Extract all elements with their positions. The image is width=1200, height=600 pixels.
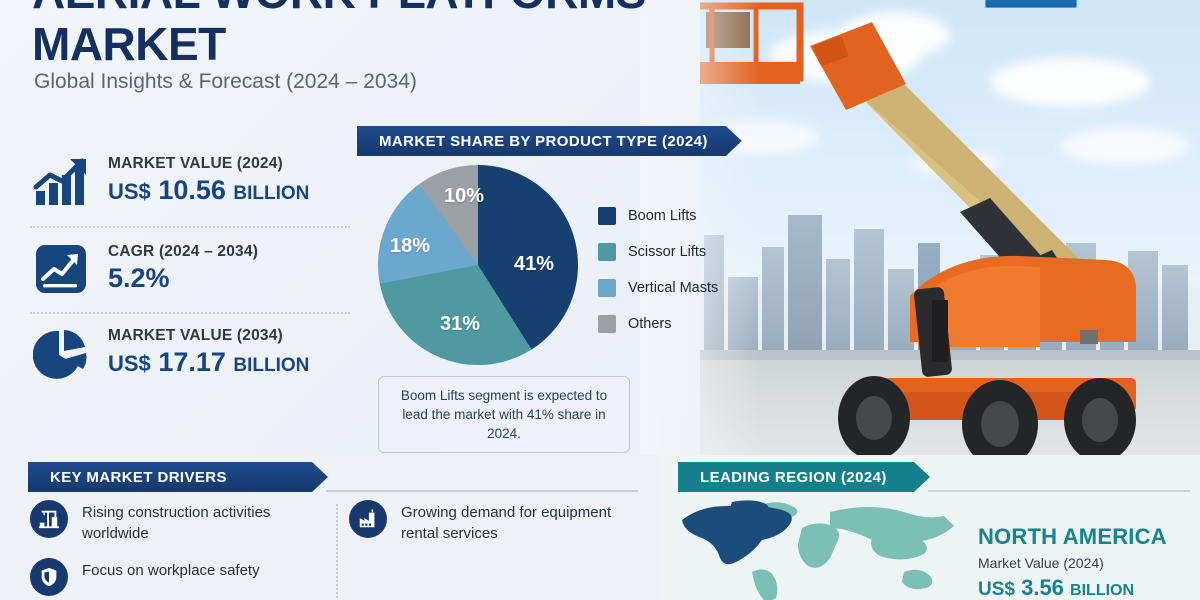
legend-label: Others [628, 316, 672, 332]
metric-cagr: CAGR (2024 – 2034) 5.2% [30, 226, 350, 312]
legend-label: Vertical Masts [628, 280, 718, 296]
page-title: AERIAL WORK PLATFORMS MARKET [32, 0, 672, 70]
region-banner: LEADING REGION (2024) [678, 462, 930, 492]
pie-chart-icon [30, 326, 92, 384]
legend-item-boom-lifts[interactable]: Boom Lifts [598, 198, 718, 234]
key-metrics-list: MARKET VALUE (2024) US$ 10.56 BILLION CA… [30, 142, 350, 398]
legend-item-vertical-masts[interactable]: Vertical Masts [598, 270, 718, 306]
region-name: NORTH AMERICA [978, 524, 1167, 550]
bar-chart-growth-icon [30, 154, 92, 212]
construction-crane-icon [30, 500, 68, 538]
metric-value: US$ 17.17 BILLION [108, 345, 309, 383]
line-chart-arrow-icon [30, 240, 92, 298]
legend-swatch [598, 315, 616, 333]
driver-text: Rising construction activities worldwide [82, 500, 331, 544]
drivers-list: Rising construction activities worldwide… [30, 500, 650, 596]
product-type-donut-chart: 41% 31% 18% 10% [378, 165, 578, 365]
region-value: US$ 3.56 BILLION [978, 575, 1167, 600]
legend-swatch [598, 279, 616, 297]
drivers-divider [326, 490, 638, 492]
legend-swatch [598, 207, 616, 225]
legend-item-scissor-lifts[interactable]: Scissor Lifts [598, 234, 718, 270]
slice-label-boom-lifts: 41% [514, 253, 554, 276]
factory-icon [349, 500, 387, 538]
metric-market-value-2034: MARKET VALUE (2034) US$ 17.17 BILLION [30, 312, 350, 398]
metric-market-value-2024: MARKET VALUE (2024) US$ 10.56 BILLION [30, 142, 350, 226]
chart-legend: Boom Lifts Scissor Lifts Vertical Masts … [598, 198, 718, 342]
slice-label-scissor-lifts: 31% [440, 313, 480, 336]
driver-text: Focus on workplace safety [82, 558, 260, 581]
driver-item-rental: Growing demand for equipment rental serv… [349, 500, 650, 544]
map-north-america-highlight [682, 500, 792, 564]
shield-safety-icon [30, 558, 68, 596]
driver-item-construction: Rising construction activities worldwide [30, 500, 331, 544]
metric-value: 5.2% [108, 261, 258, 295]
chart-callout-note: Boom Lifts segment is expected to lead t… [378, 376, 630, 453]
metric-label: MARKET VALUE (2024) [108, 155, 309, 173]
metric-label: MARKET VALUE (2034) [108, 327, 309, 345]
slice-label-others: 10% [444, 185, 484, 208]
legend-swatch [598, 243, 616, 261]
slice-label-vertical-masts: 18% [390, 235, 430, 258]
world-map [678, 498, 956, 600]
chart-title-banner: MARKET SHARE BY PRODUCT TYPE (2024) [357, 126, 742, 156]
region-value-label: Market Value (2024) [978, 555, 1167, 571]
driver-item-safety: Focus on workplace safety [30, 558, 331, 596]
legend-label: Boom Lifts [628, 208, 697, 224]
metric-value: US$ 10.56 BILLION [108, 173, 309, 211]
logo-badge[interactable] [985, 0, 1077, 8]
legend-label: Scissor Lifts [628, 244, 706, 260]
drivers-banner: KEY MARKET DRIVERS [28, 462, 328, 492]
region-divider [928, 490, 1190, 492]
page-subtitle: Global Insights & Forecast (2024 – 2034) [34, 70, 417, 94]
metric-label: CAGR (2024 – 2034) [108, 243, 258, 261]
driver-text: Growing demand for equipment rental serv… [401, 500, 650, 544]
region-info: NORTH AMERICA Market Value (2024) US$ 3.… [978, 524, 1167, 600]
legend-item-others[interactable]: Others [598, 306, 718, 342]
